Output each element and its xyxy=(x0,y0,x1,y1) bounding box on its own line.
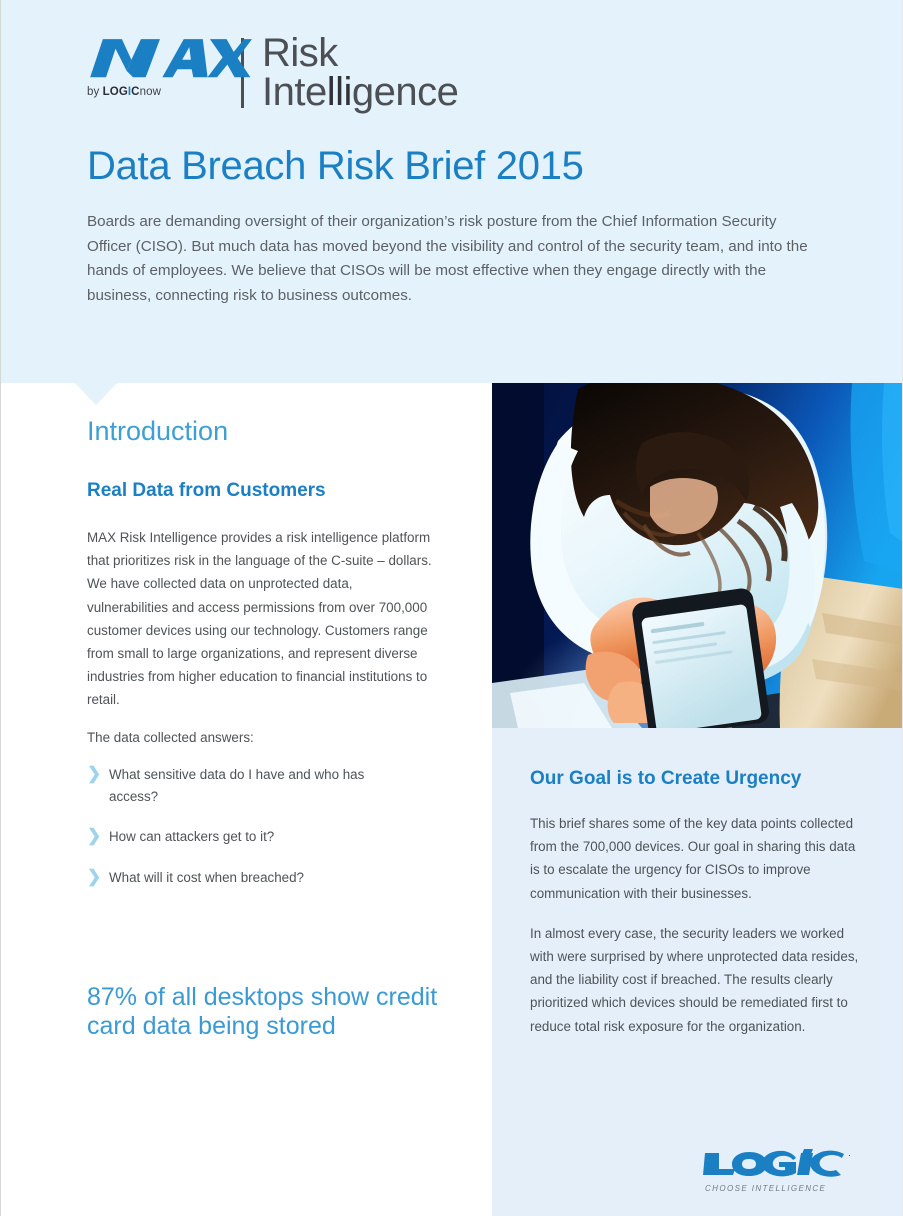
intro-body-text: MAX Risk Intelligence provides a risk in… xyxy=(87,526,437,712)
section-heading-introduction: Introduction xyxy=(87,416,228,447)
statistic-callout: 87% of all desktops show credit card dat… xyxy=(87,983,447,1042)
intel-part-c: gence xyxy=(352,70,458,114)
chevron-right-icon: ❯ xyxy=(87,763,109,784)
list-item-label: What sensitive data do I have and who ha… xyxy=(109,764,399,807)
right-side-panel: Our Goal is to Create Urgency This brief… xyxy=(492,728,903,1216)
list-item-label: How can attackers get to it? xyxy=(109,826,399,848)
brand-logo: by LOGICnow Risk Intelligence xyxy=(87,34,458,112)
footer-tagline: CHOOSE INTELLIGENCE xyxy=(703,1184,851,1193)
max-byline: by LOGICnow xyxy=(87,86,229,98)
hero-photo xyxy=(492,383,903,728)
product-name-intelligence: Intelligence xyxy=(262,73,458,112)
list-item: ❯ How can attackers get to it? xyxy=(87,826,437,848)
intel-part-b: lli xyxy=(327,70,352,114)
product-name-risk: Risk xyxy=(262,34,458,73)
byline-c: C xyxy=(131,86,139,98)
footer-logo: CHOOSE INTELLIGENCE xyxy=(703,1149,851,1193)
byline-logic: LOG xyxy=(103,86,128,98)
chevron-right-icon: ❯ xyxy=(87,825,109,846)
max-wordmark-icon xyxy=(87,36,254,82)
byline-prefix: by xyxy=(87,86,103,98)
byline-now: now xyxy=(140,86,161,98)
list-item-label: What will it cost when breached? xyxy=(109,867,399,889)
panel-body-text: This brief shares some of the key data p… xyxy=(530,812,860,1055)
woman-with-smartphone-illustration xyxy=(492,383,903,728)
list-item: ❯ What sensitive data do I have and who … xyxy=(87,764,437,807)
lead-paragraph: Boards are demanding oversight of their … xyxy=(87,210,817,309)
subheading-real-data-from-customers: Real Data from Customers xyxy=(87,480,326,502)
intel-part-a: Inte xyxy=(262,70,327,114)
question-bullet-list: ❯ What sensitive data do I have and who … xyxy=(87,764,437,908)
panel-heading-our-goal: Our Goal is to Create Urgency xyxy=(530,768,801,790)
list-item: ❯ What will it cost when breached? xyxy=(87,867,437,889)
max-logo-block: by LOGICnow xyxy=(87,34,229,98)
list-intro-text: The data collected answers: xyxy=(87,726,437,749)
document-page: by LOGICnow Risk Intelligence Data Breac… xyxy=(0,0,903,1216)
panel-paragraph: This brief shares some of the key data p… xyxy=(530,812,860,905)
page-title: Data Breach Risk Brief 2015 xyxy=(87,144,584,189)
chevron-right-icon: ❯ xyxy=(87,866,109,887)
panel-paragraph: In almost every case, the security leade… xyxy=(530,922,860,1038)
logicnow-wordmark-icon xyxy=(703,1149,851,1179)
product-name: Risk Intelligence xyxy=(262,34,458,112)
header-notch-triangle xyxy=(75,383,117,405)
